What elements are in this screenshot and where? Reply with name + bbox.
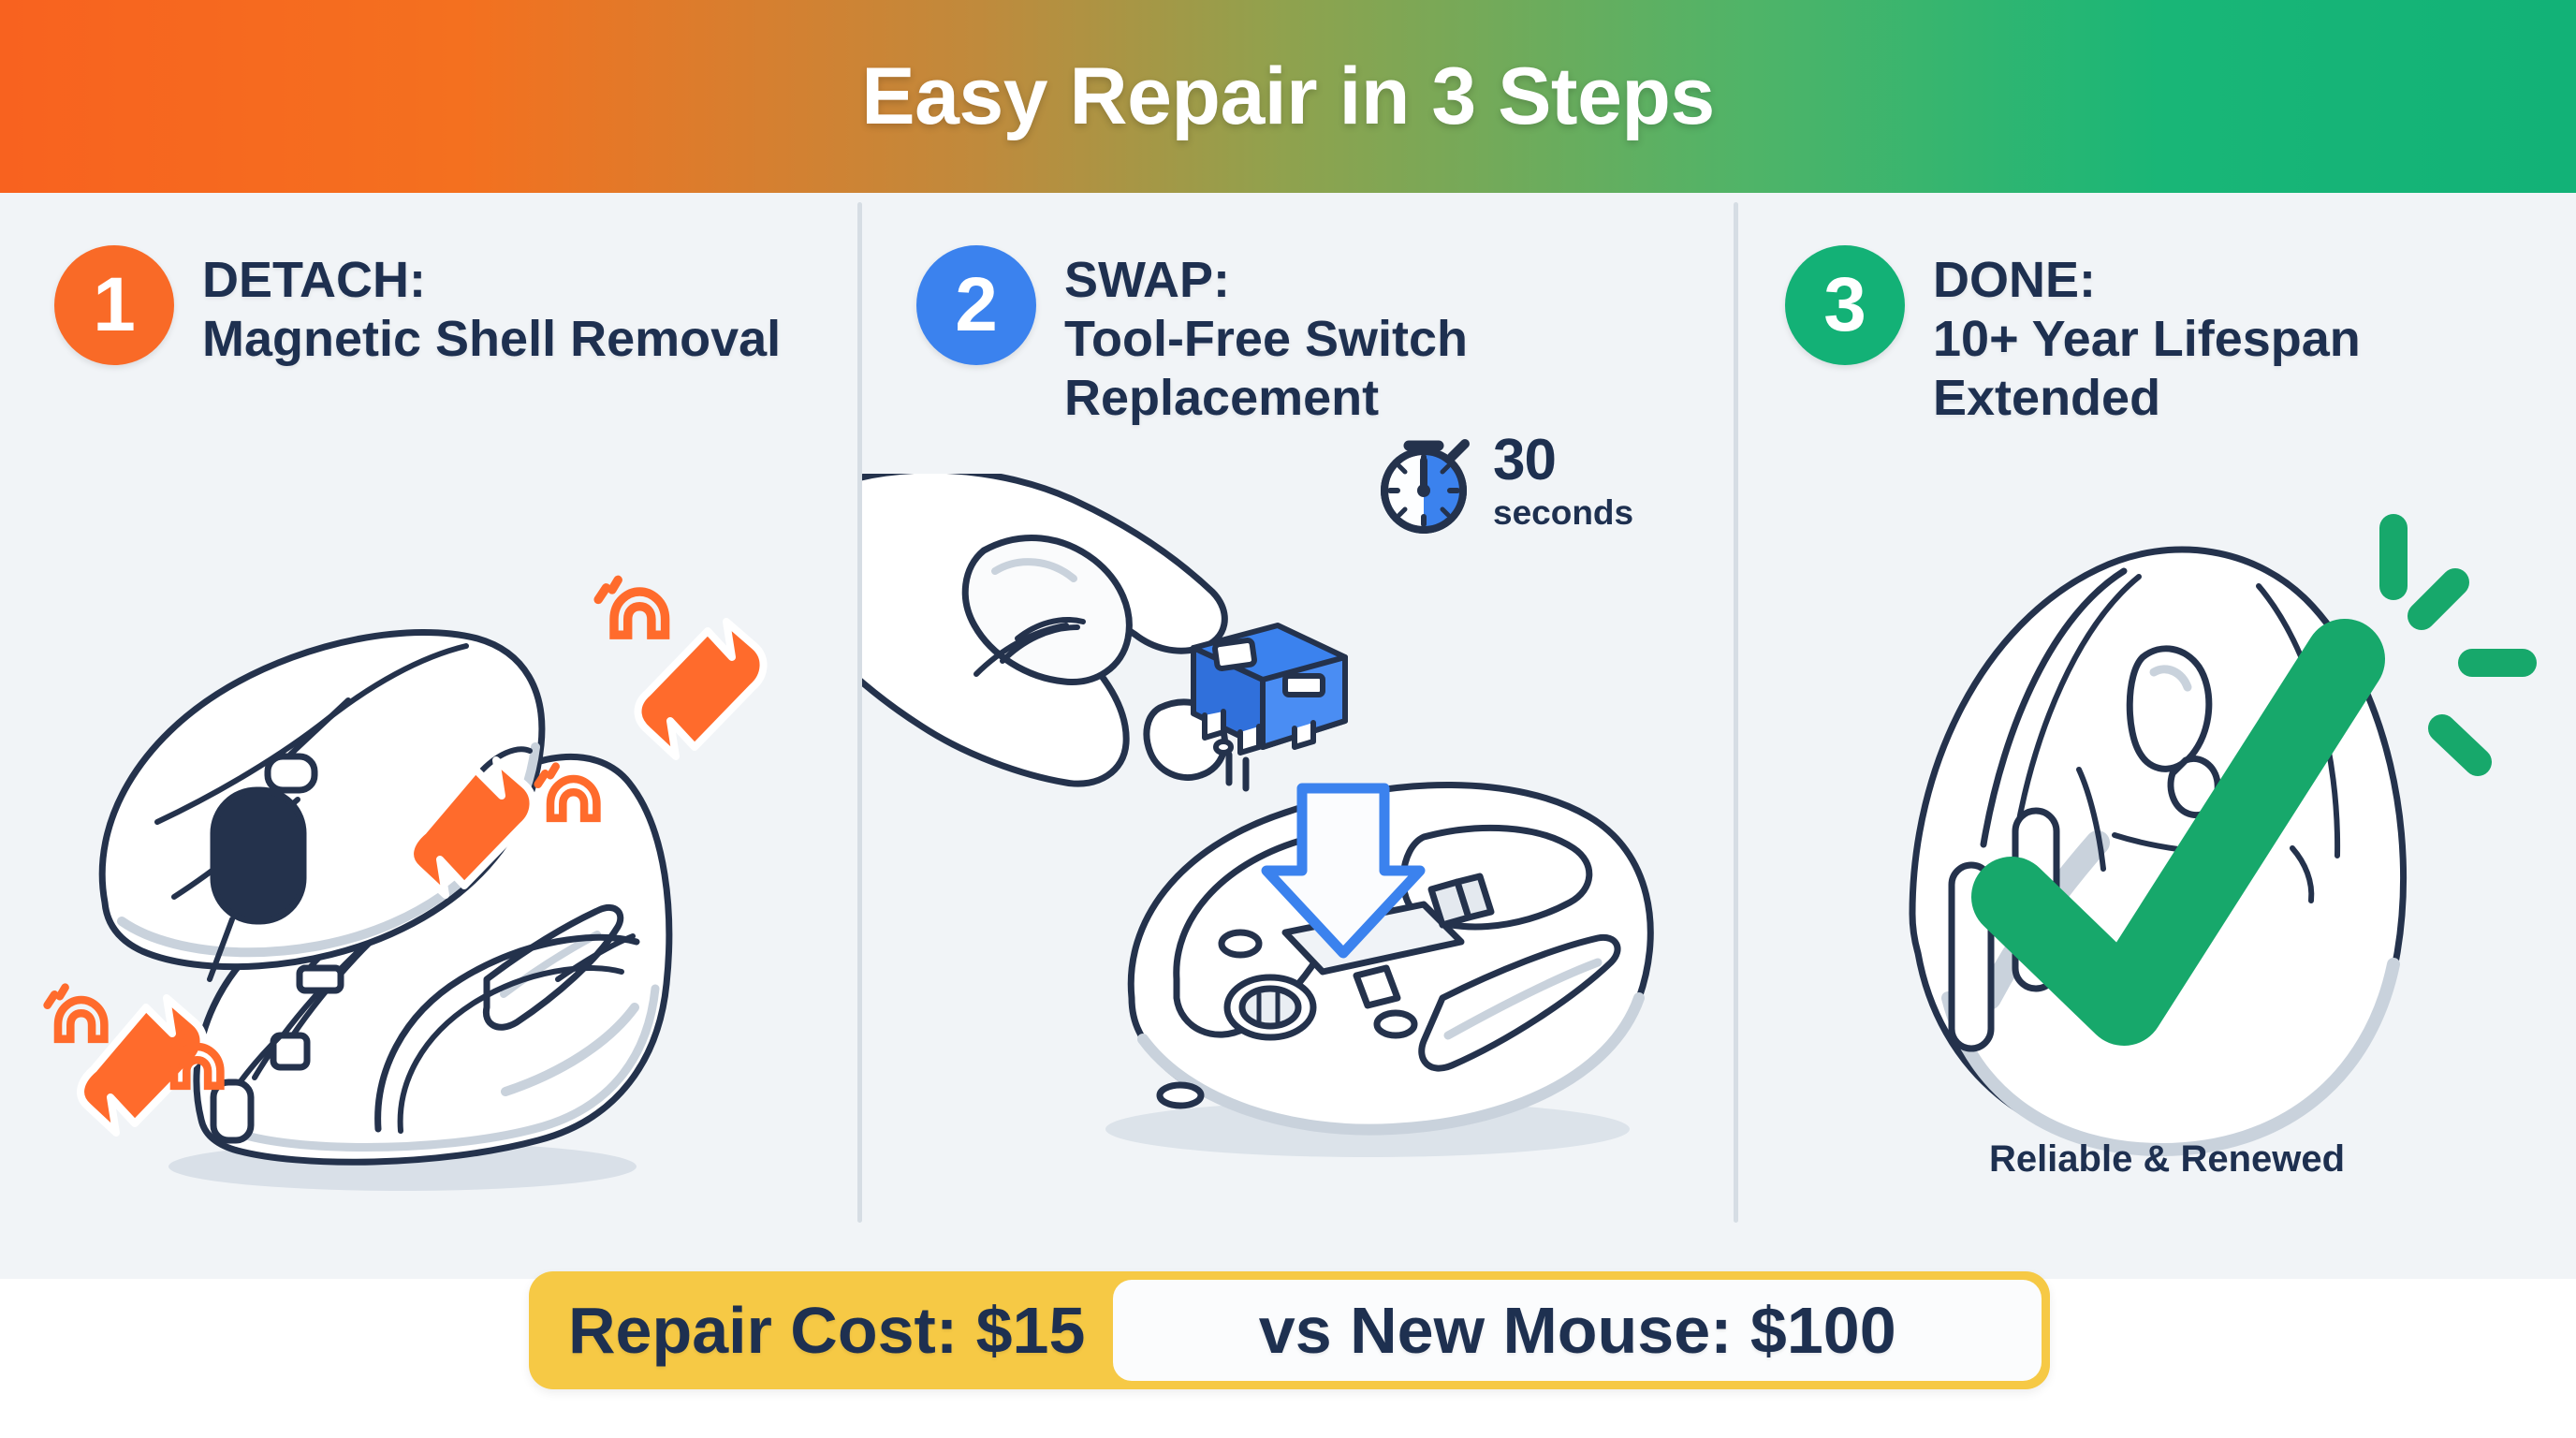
header-bar: Easy Repair in 3 Steps — [0, 0, 2576, 193]
step-1-text: DETACH: Magnetic Shell Removal — [202, 245, 781, 369]
step-2-illustration — [862, 474, 1720, 1213]
step-1-subtitle: Magnetic Shell Removal — [202, 310, 781, 369]
step-3-caption: Reliable & Renewed — [1738, 1138, 2576, 1181]
step-3-header: 3 DONE: 10+ Year Lifespan Extended — [1785, 245, 2576, 429]
step-1-title: DETACH: — [202, 252, 426, 308]
step-3-title: DONE: — [1933, 252, 2096, 308]
new-mouse-cost-label: vs New Mouse: $100 — [1113, 1280, 2042, 1381]
step-3-number-badge: 3 — [1785, 245, 1905, 365]
magnet-icon — [598, 580, 665, 635]
step-2-subtitle: Tool-Free Switch Replacement — [1064, 310, 1720, 428]
step-3-illustration — [1738, 474, 2576, 1213]
step-3-subtitle: 10+ Year Lifespan Extended — [1933, 310, 2576, 428]
step-column-1: 1 DETACH: Magnetic Shell Removal — [0, 193, 857, 1279]
step-1-header: 1 DETACH: Magnetic Shell Removal — [54, 245, 781, 369]
step-2-number-badge: 2 — [916, 245, 1036, 365]
step-2-title: SWAP: — [1064, 252, 1230, 308]
step-1-illustration — [0, 474, 857, 1213]
step-3-text: DONE: 10+ Year Lifespan Extended — [1933, 245, 2576, 429]
step-2-text: SWAP: Tool-Free Switch Replacement — [1064, 245, 1720, 429]
cost-comparison-banner: Repair Cost: $15 vs New Mouse: $100 — [529, 1271, 2050, 1389]
step-2-header: 2 SWAP: Tool-Free Switch Replacement — [916, 245, 1720, 429]
step-column-3: 3 DONE: 10+ Year Lifespan Extended — [1738, 193, 2576, 1279]
step-1-number-badge: 1 — [54, 245, 174, 365]
step-column-2: 2 SWAP: Tool-Free Switch Replacement — [862, 193, 1720, 1279]
repair-cost-label: Repair Cost: $15 — [529, 1298, 1113, 1363]
infographic-page: Easy Repair in 3 Steps 1 DETACH: Magneti… — [0, 0, 2576, 1438]
magnet-icon — [48, 988, 105, 1039]
sparkle-icon — [2393, 528, 2523, 762]
page-title: Easy Repair in 3 Steps — [861, 56, 1715, 137]
